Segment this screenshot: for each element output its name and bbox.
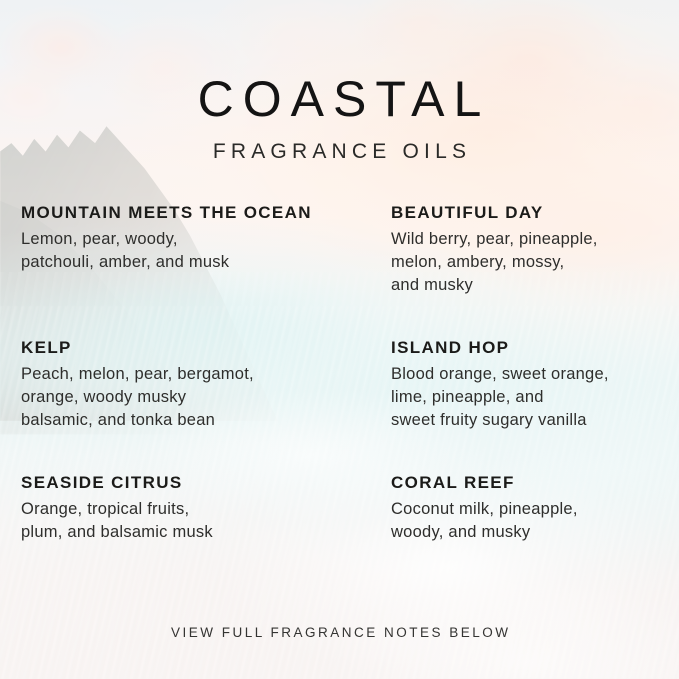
fragrance-notes: Blood orange, sweet orange, lime, pineap… — [391, 363, 648, 433]
fragrance-entry-beautiful-day: BEAUTIFUL DAY Wild berry, pear, pineappl… — [391, 203, 658, 338]
fragrance-name: ISLAND HOP — [391, 338, 648, 358]
fragrance-notes: Peach, melon, pear, bergamot, orange, wo… — [21, 363, 381, 433]
fragrance-name: KELP — [21, 338, 381, 358]
fragrance-name: SEASIDE CITRUS — [21, 473, 381, 493]
fragrance-entry-seaside-citrus: SEASIDE CITRUS Orange, tropical fruits, … — [21, 473, 391, 608]
fragrance-notes: Wild berry, pear, pineapple, melon, ambe… — [391, 228, 648, 298]
footer-callout: VIEW FULL FRAGRANCE NOTES BELOW — [0, 625, 679, 640]
fragrance-name: MOUNTAIN MEETS THE OCEAN — [21, 203, 381, 223]
coastal-fragrance-poster: COASTAL FRAGRANCE OILS MOUNTAIN MEETS TH… — [0, 0, 679, 679]
title-block: COASTAL FRAGRANCE OILS — [0, 74, 679, 164]
fragrance-notes: Orange, tropical fruits, plum, and balsa… — [21, 498, 381, 545]
fragrance-entry-coral-reef: CORAL REEF Coconut milk, pineapple, wood… — [391, 473, 658, 608]
fragrance-name: BEAUTIFUL DAY — [391, 203, 648, 223]
fragrance-entry-island-hop: ISLAND HOP Blood orange, sweet orange, l… — [391, 338, 658, 473]
fragrance-notes: Coconut milk, pineapple, woody, and musk… — [391, 498, 648, 545]
fragrance-entry-mountain-meets-the-ocean: MOUNTAIN MEETS THE OCEAN Lemon, pear, wo… — [21, 203, 391, 338]
fragrance-notes: Lemon, pear, woody, patchouli, amber, an… — [21, 228, 381, 275]
page-title: COASTAL — [0, 74, 679, 124]
fragrance-name: CORAL REEF — [391, 473, 648, 493]
fragrance-grid: MOUNTAIN MEETS THE OCEAN Lemon, pear, wo… — [21, 203, 658, 608]
poster-content: COASTAL FRAGRANCE OILS MOUNTAIN MEETS TH… — [0, 0, 679, 679]
page-subtitle: FRAGRANCE OILS — [0, 140, 679, 164]
fragrance-entry-kelp: KELP Peach, melon, pear, bergamot, orang… — [21, 338, 391, 473]
